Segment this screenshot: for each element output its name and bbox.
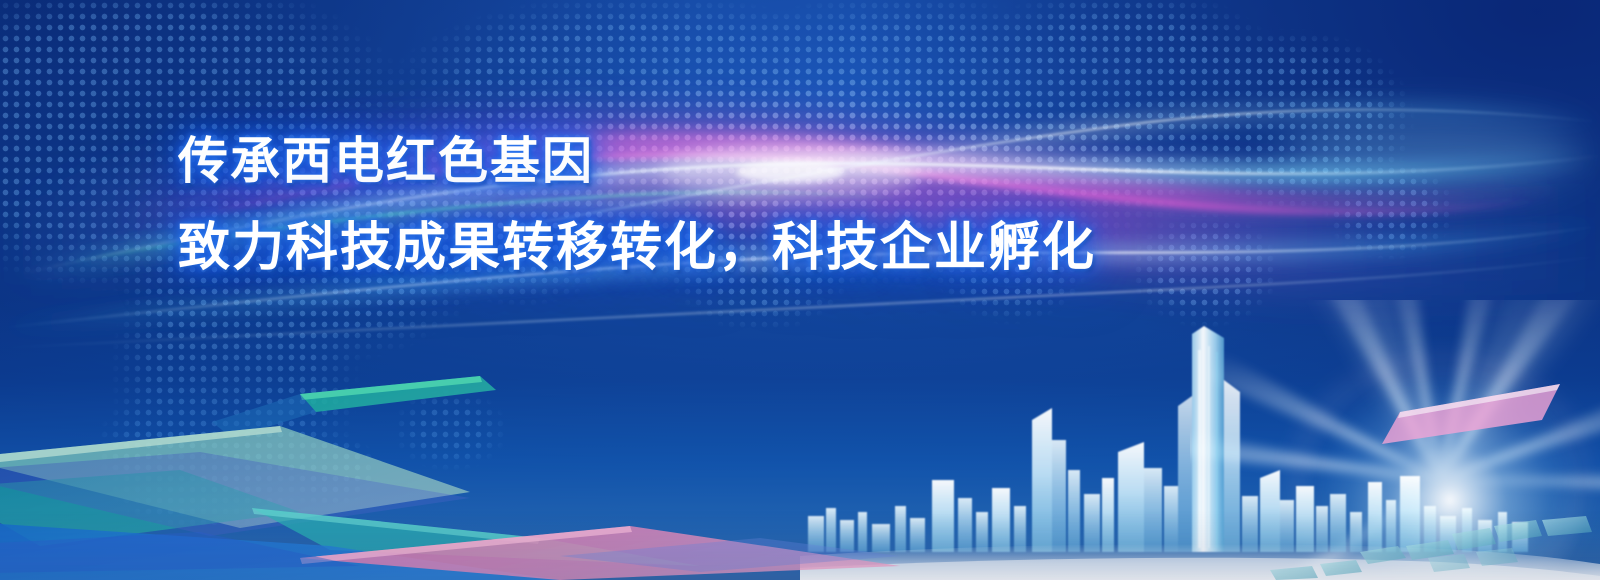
headline-block: 传承西电红色基因 致力科技成果转移转化，科技企业孵化 [178, 136, 1378, 274]
hero-banner: 传承西电红色基因 致力科技成果转移转化，科技企业孵化 [0, 0, 1600, 580]
city-skyline-graphic [800, 320, 1600, 580]
polygon-shards-graphic [0, 360, 900, 580]
headline-line-2: 致力科技成果转移转化，科技企业孵化 [178, 222, 1378, 274]
headline-line-1: 传承西电红色基因 [178, 136, 1378, 186]
